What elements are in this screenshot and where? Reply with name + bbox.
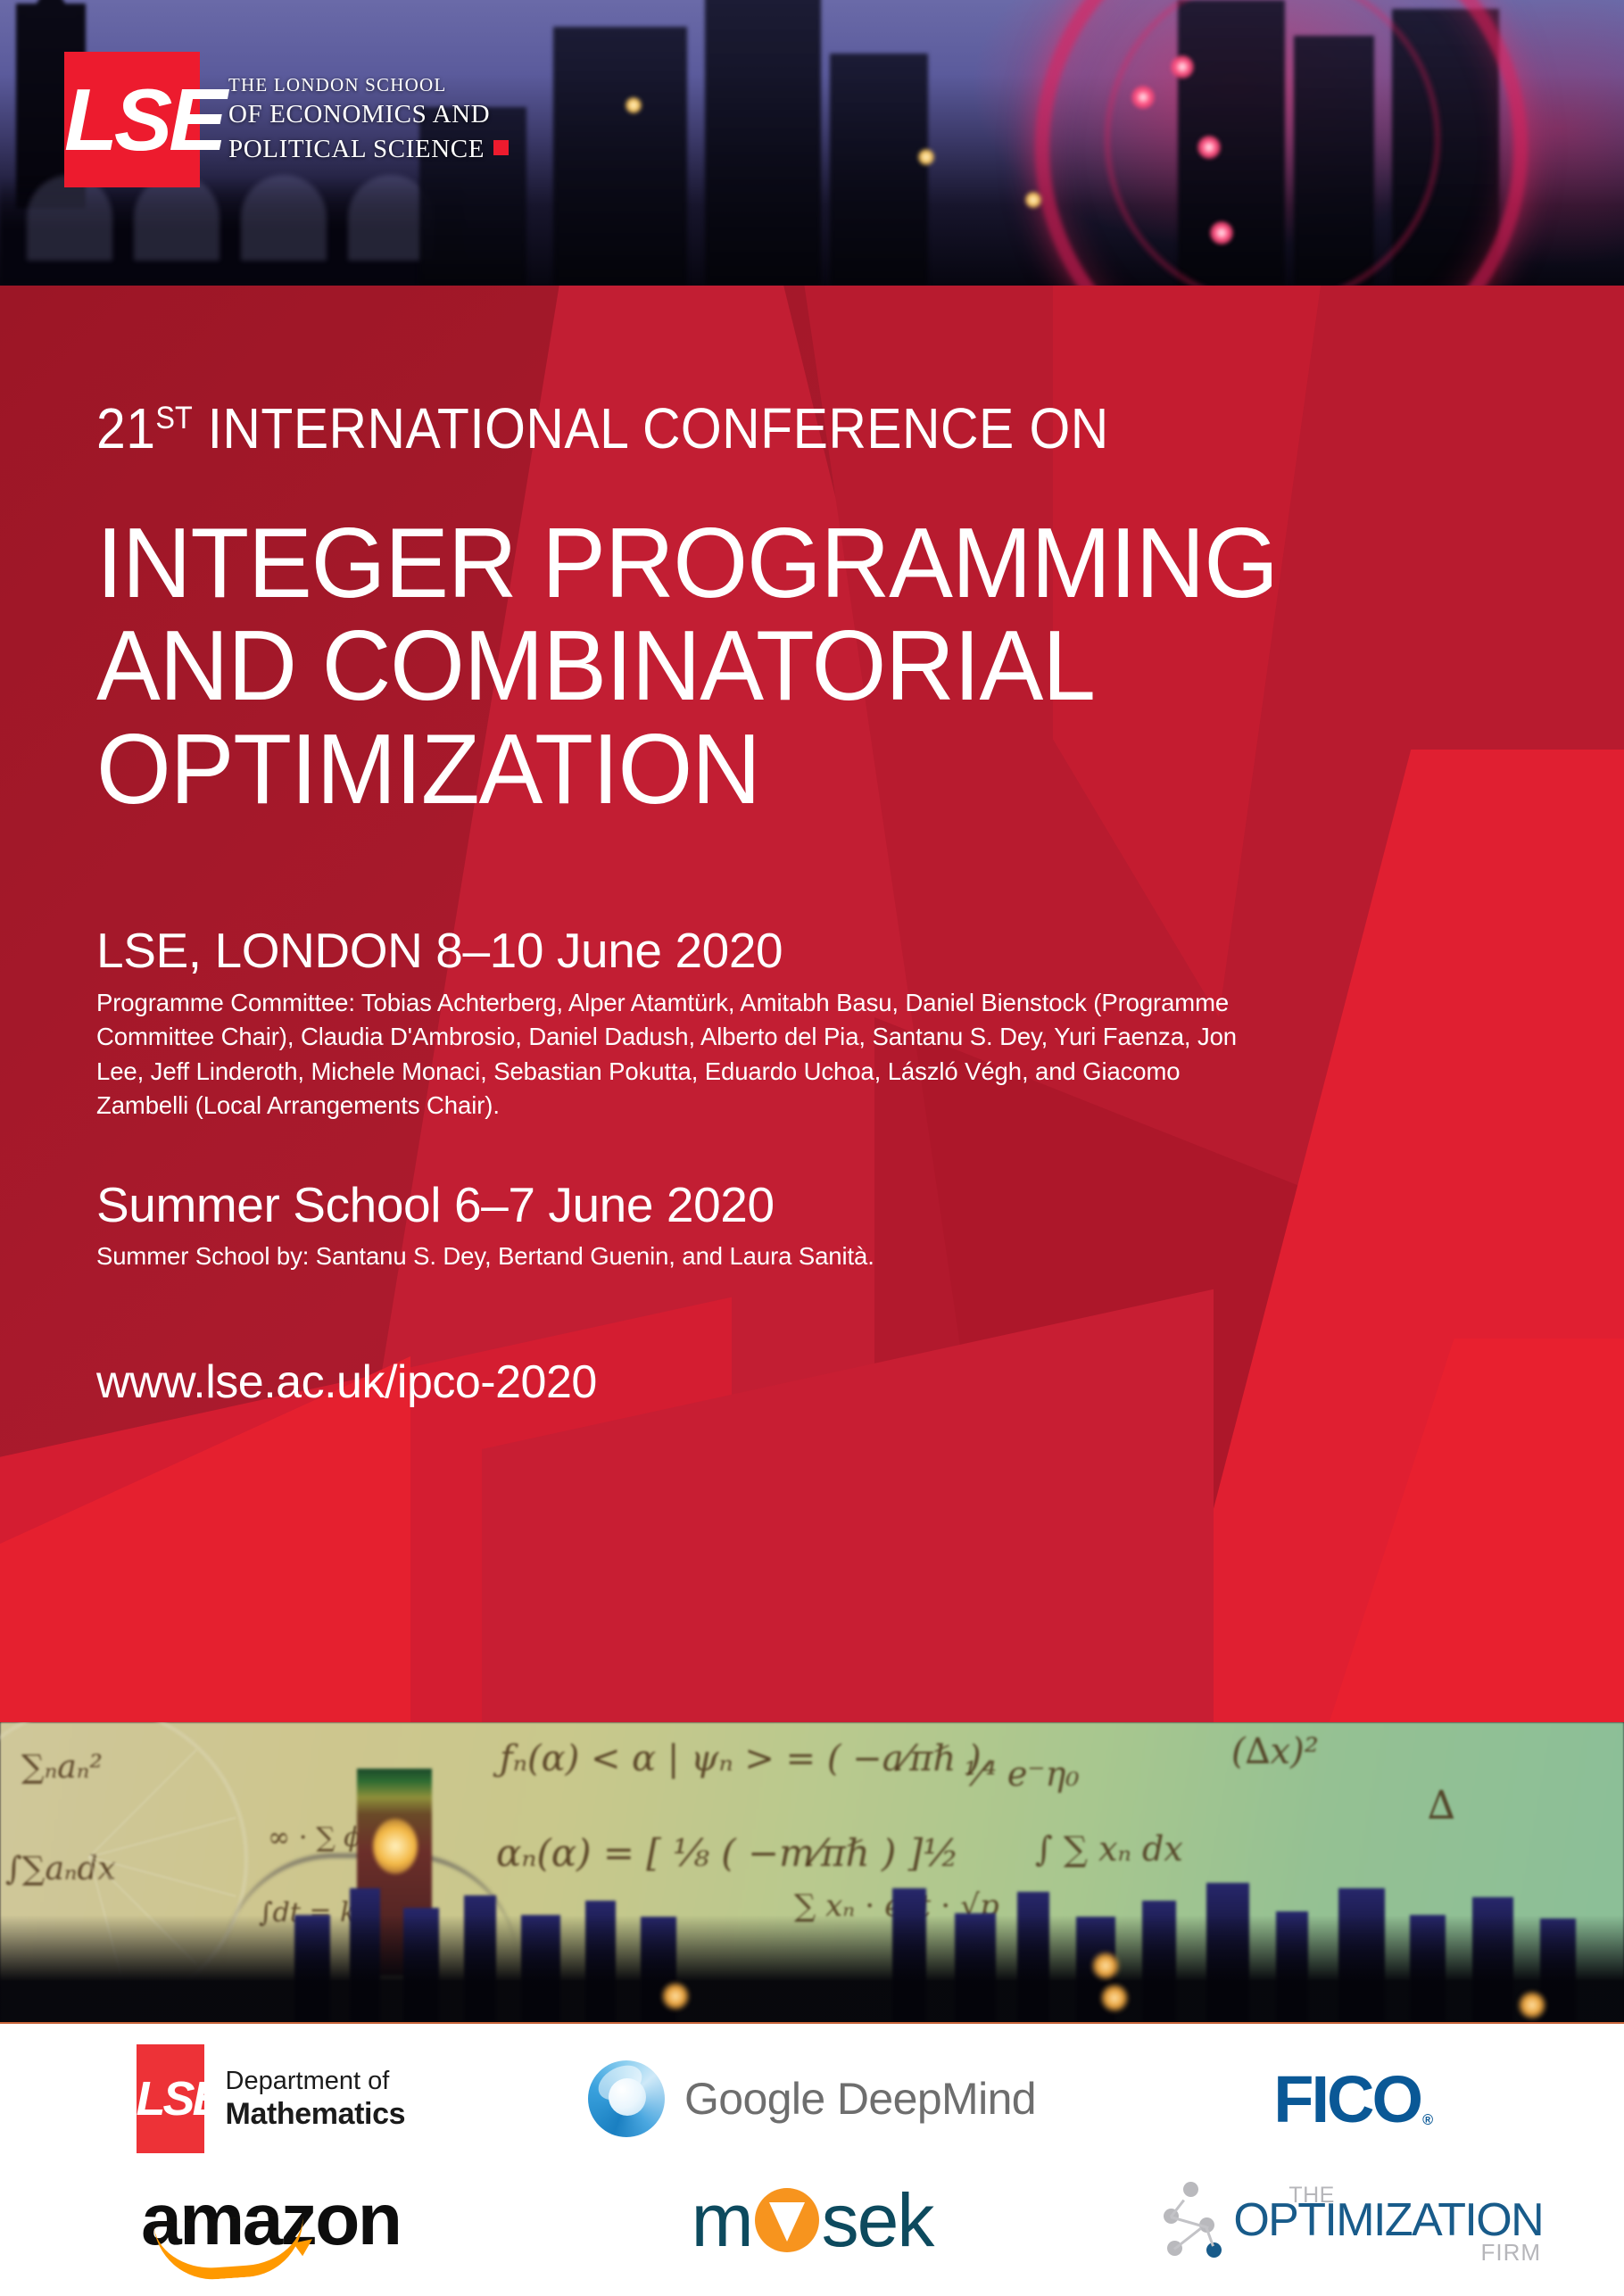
optimization-firm-firm: FIRM (1480, 2239, 1541, 2267)
street-lamp-glow (917, 148, 935, 166)
conference-ordinal-suffix: ST (155, 401, 192, 435)
sponsor-row-bottom: amazon msek (0, 2163, 1624, 2277)
lse-wordmark-line-2: OF ECONOMICS AND (228, 97, 509, 132)
conference-kicker-rest: INTERNATIONAL CONFERENCE ON (193, 396, 1109, 460)
programme-committee-text: Programme Committee: Tobias Achterberg, … (96, 986, 1265, 1123)
deepmind-swirl-icon (588, 2060, 665, 2137)
skyline-shadow (0, 1915, 1624, 2022)
lse-mathematics-logo: LSE Department of Mathematics (137, 2044, 406, 2153)
sponsor-mosek: msek (542, 2163, 1083, 2277)
title-line-1: INTEGER PROGRAMMING (96, 512, 1464, 615)
london-eye-pod (1197, 136, 1221, 159)
google-deepmind-logo: Google DeepMind (588, 2060, 1036, 2137)
top-skyline-photo: LSE THE LONDON SCHOOL OF ECONOMICS AND P… (0, 0, 1624, 286)
fico-wordmark: FICO (1273, 2062, 1421, 2136)
summer-school-heading: Summer School 6–7 June 2020 (96, 1179, 1506, 1231)
lse-logo-mark: LSE (137, 2044, 204, 2153)
riverside-light-glow (660, 1981, 691, 2011)
department-label: Department of (226, 2066, 406, 2096)
mosek-logo: msek (692, 2183, 933, 2258)
amazon-smile-icon (153, 2213, 307, 2284)
main-red-panel: 21ST INTERNATIONAL CONFERENCE ON INTEGER… (0, 286, 1624, 1722)
street-lamp-glow (625, 96, 642, 114)
lse-logo-mark-text: LSE (137, 2075, 204, 2123)
london-eye-pod (1210, 221, 1233, 245)
sponsor-footer: LSE Department of Mathematics Google Dee… (0, 2022, 1624, 2296)
handwritten-equation: ∆ (1428, 1783, 1455, 1828)
google-deepmind-wordmark: Google DeepMind (684, 2073, 1036, 2125)
department-name: Mathematics (226, 2096, 406, 2132)
mosek-wordmark-part-2: sek (822, 2183, 933, 2258)
network-graph-icon (1164, 2182, 1230, 2259)
conference-poster: LSE THE LONDON SCHOOL OF ECONOMICS AND P… (0, 0, 1624, 2296)
sponsor-lse-mathematics: LSE Department of Mathematics (0, 2045, 542, 2152)
lse-logo-mark: LSE (64, 52, 200, 187)
mosek-triangle-icon (755, 2188, 819, 2252)
amazon-logo: amazon (141, 2184, 400, 2257)
conference-website-url[interactable]: www.lse.ac.uk/ipco-2020 (96, 1359, 1506, 1405)
lse-wordmark-line-3-wrap: POLITICAL SCIENCE (228, 132, 509, 167)
conference-kicker: 21ST INTERNATIONAL CONFERENCE ON (96, 400, 1394, 457)
london-eye-pod (1171, 55, 1194, 79)
riverside-light-glow (1099, 1983, 1130, 2013)
building-silhouette (830, 54, 928, 286)
title-line-2: AND COMBINATORIAL (96, 615, 1464, 717)
sponsor-amazon: amazon (0, 2163, 542, 2277)
bridge-arch (241, 175, 327, 261)
lse-red-square-icon (493, 140, 509, 155)
mosek-wordmark-part-1: m (692, 2183, 752, 2258)
lse-logo-mark-text: LSE (64, 76, 200, 163)
street-lamp-glow (1024, 191, 1042, 209)
bottom-blackboard-photo: ƒₙ(α) < α | ψₙ > = ( −𝑎⁄πℏ ) ¹⁄⁴ e⁻𝜂₀ (∆… (0, 1722, 1624, 2022)
sponsor-google-deepmind: Google DeepMind (542, 2045, 1083, 2152)
optimization-firm-name: OPTIMIZATION (1233, 2197, 1543, 2243)
lse-wordmark-line-3: POLITICAL SCIENCE (228, 135, 485, 163)
lse-logo: LSE THE LONDON SCHOOL OF ECONOMICS AND P… (64, 52, 509, 187)
handwritten-equation: ƒₙ(α) < α | ψₙ > = ( −𝑎⁄πℏ ) (500, 1738, 982, 1779)
venue-and-dates: LSE, LONDON 8–10 June 2020 (96, 924, 1506, 976)
poster-content: 21ST INTERNATIONAL CONFERENCE ON INTEGER… (96, 286, 1506, 1405)
fico-logo: FICO® (1273, 2061, 1433, 2137)
building-silhouette (553, 27, 687, 286)
graph-edge (1173, 2227, 1202, 2250)
lse-mathematics-wordmark: Department of Mathematics (226, 2066, 406, 2132)
bridge-arch (27, 175, 112, 261)
bridge-arch (134, 175, 220, 261)
title-line-3: OPTIMIZATION (96, 718, 1464, 821)
optimization-firm-wordmark: THE OPTIMIZATION FIRM (1233, 2197, 1543, 2243)
lse-logo-wordmark: THE LONDON SCHOOL OF ECONOMICS AND POLIT… (228, 72, 509, 167)
handwritten-equation: (∆𝑥)² (1231, 1731, 1319, 1772)
parliament-skyline (0, 1844, 1624, 2022)
riverside-light-glow (1517, 1990, 1547, 2020)
page-title: INTEGER PROGRAMMING AND COMBINATORIAL OP… (96, 512, 1464, 821)
handwritten-equation: ¹⁄⁴ e⁻𝜂₀ (964, 1754, 1079, 1794)
building-silhouette (705, 0, 821, 286)
sponsor-fico: FICO® (1082, 2045, 1624, 2152)
optimization-firm-logo: THE OPTIMIZATION FIRM (1164, 2182, 1543, 2259)
summer-school-lecturers: Summer School by: Santanu S. Dey, Bertan… (96, 1239, 1506, 1274)
optimization-firm-the: THE (1288, 2183, 1335, 2209)
riverside-light-glow (1090, 1951, 1121, 1981)
london-eye-inner-ring (1105, 0, 1440, 286)
optimization-firm-initial: O (1233, 2194, 1268, 2246)
sponsor-optimization-firm: THE OPTIMIZATION FIRM (1082, 2163, 1624, 2277)
sponsor-row-top: LSE Department of Mathematics Google Dee… (0, 2045, 1624, 2152)
registered-trademark-icon: ® (1422, 2112, 1433, 2128)
london-eye-pod (1131, 86, 1155, 109)
lse-wordmark-line-1: THE LONDON SCHOOL (228, 72, 509, 97)
graph-node (1183, 2182, 1198, 2197)
conference-ordinal-number: 21 (96, 396, 155, 460)
